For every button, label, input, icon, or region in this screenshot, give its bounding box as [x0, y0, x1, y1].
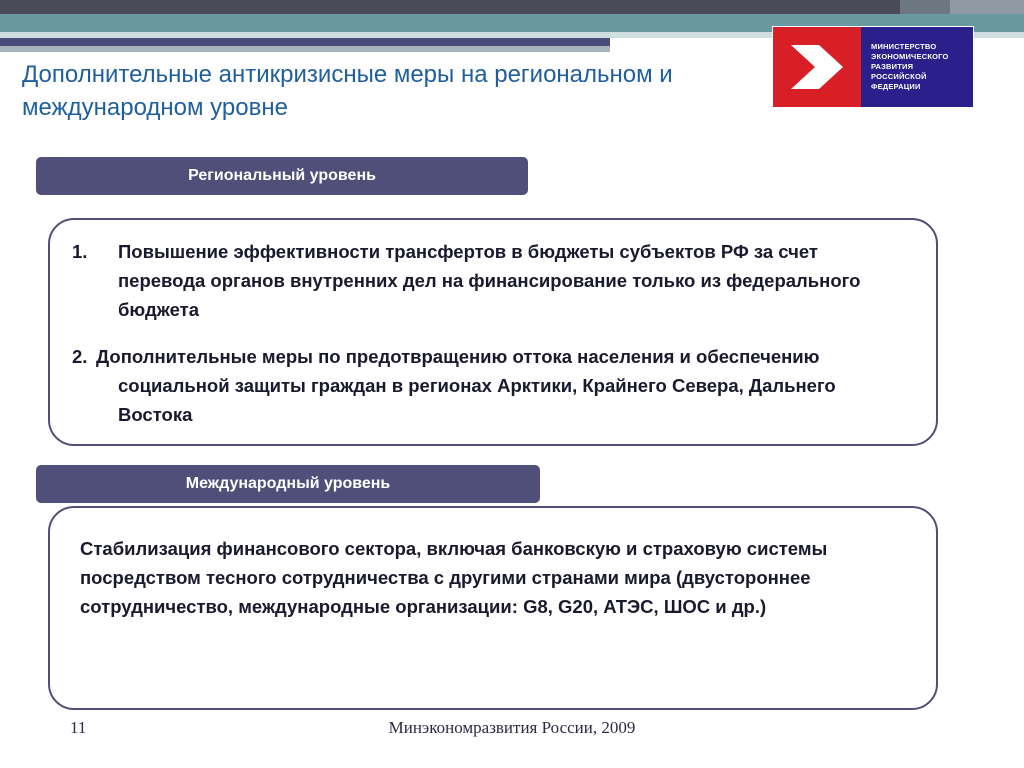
top-band-block-gray-light — [950, 0, 1024, 14]
logo-text-line: РАЗВИТИЯ — [871, 62, 949, 72]
list-item-number: 2. — [72, 342, 87, 371]
logo-text: МИНИСТЕРСТВО ЭКОНОМИЧЕСКОГО РАЗВИТИЯ РОС… — [871, 42, 949, 92]
content-box-regional: 1. Повышение эффективности трансфертов в… — [48, 218, 938, 446]
list-item: 2. Дополнительные меры по предотвращению… — [72, 342, 912, 429]
footer-text: Минэкономразвития России, 2009 — [0, 718, 1024, 738]
arrow-icon — [789, 43, 845, 91]
top-band-block-gray-dark — [900, 0, 950, 14]
list-item-text: Дополнительные меры по предотвращению от… — [118, 342, 912, 429]
logo-text-line: ЭКОНОМИЧЕСКОГО — [871, 52, 949, 62]
ministry-logo: МИНИСТЕРСТВО ЭКОНОМИЧЕСКОГО РАЗВИТИЯ РОС… — [772, 26, 974, 108]
section-header-international: Международный уровень — [36, 465, 540, 503]
top-band-gray — [0, 46, 610, 52]
list-item-number: 1. — [72, 237, 87, 266]
list-item: 1. Повышение эффективности трансфертов в… — [72, 237, 902, 324]
logo-purple-block: МИНИСТЕРСТВО ЭКОНОМИЧЕСКОГО РАЗВИТИЯ РОС… — [861, 27, 973, 107]
logo-text-line: МИНИСТЕРСТВО — [871, 42, 949, 52]
top-band-dark — [0, 0, 1024, 14]
logo-text-line: ФЕДЕРАЦИИ — [871, 82, 949, 92]
section-header-regional: Региональный уровень — [36, 157, 528, 195]
list-item-text: Повышение эффективности трансфертов в бю… — [118, 237, 902, 324]
content-box-international: Стабилизация финансового сектора, включа… — [48, 506, 938, 710]
top-band-navy — [0, 38, 610, 46]
list-item: Стабилизация финансового сектора, включа… — [80, 534, 910, 621]
logo-red-block — [773, 27, 861, 107]
logo-text-line: РОССИЙСКОЙ — [871, 72, 949, 82]
page-title: Дополнительные антикризисные меры на рег… — [22, 58, 742, 124]
